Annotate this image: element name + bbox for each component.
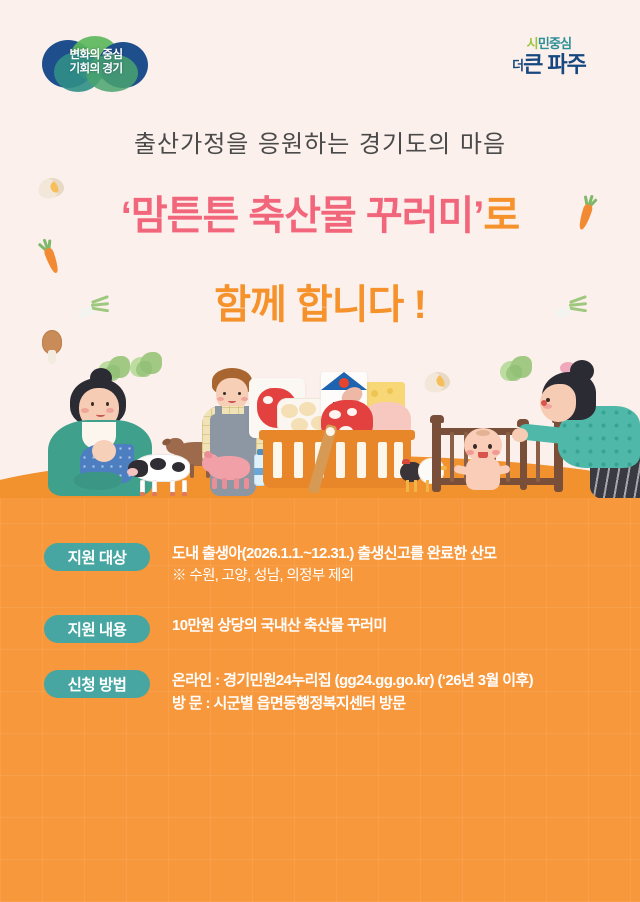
paju-name-main: 큰 파주 [523, 52, 586, 77]
info-row-application: 신청 방법 온라인 : 경기민원24누리집 (gg24.gg.go.kr) (‘… [0, 669, 640, 715]
headline-particle: 로 [483, 194, 519, 238]
leek-icon [556, 296, 590, 318]
paju-logo-slogan: 시민중심 [494, 36, 604, 51]
info-text-benefit-main: 10만원 상당의 국내산 축산물 꾸러미 [172, 614, 387, 637]
paju-slogan-rest: 민중심 [538, 36, 571, 51]
lettuce-icon [500, 356, 532, 384]
info-text-eligibility-main: 도내 출생아(2026.1.1.~12.31.) 출생신고를 완료한 산모 [172, 542, 496, 565]
illustration-cow [128, 448, 200, 496]
info-label-eligibility: 지원 대상 [44, 543, 150, 571]
paju-logo: 시민중심 더큰 파주 [494, 36, 604, 78]
subtitle: 출산가정을 응원하는 경기도의 마음 [0, 124, 640, 159]
gyeonggi-logo-line1: 변화의 중심 [50, 49, 142, 63]
gyeonggi-logo-line2: 기회의 경기 [50, 63, 142, 77]
poster-root: 변화의 중심 기회의 경기 시민중심 더큰 파주 출산가정을 응원하는 경기도의… [0, 0, 640, 902]
info-label-application: 신청 방법 [44, 670, 150, 698]
headline-quoted-title: ‘맘튼튼 축산물 꾸러미’ [121, 194, 484, 238]
info-text-application-visit: 방 문 : 시군별 읍면동행정복지센터 방문 [172, 692, 533, 715]
gyeonggi-logo: 변화의 중심 기회의 경기 [42, 36, 150, 92]
paju-logo-name: 더큰 파주 [494, 52, 604, 78]
info-text-eligibility-note: ※ 수원, 고양, 성남, 의정부 제외 [172, 565, 496, 588]
egg-icon [424, 372, 450, 392]
info-row-benefit: 지원 내용 10만원 상당의 국내산 축산물 꾸러미 [0, 614, 640, 643]
info-row-eligibility: 지원 대상 도내 출생아(2026.1.1.~12.31.) 출생신고를 완료한… [0, 542, 640, 588]
drumstick-icon [42, 330, 62, 364]
info-body-application: 온라인 : 경기민원24누리집 (gg24.gg.go.kr) (‘26년 3월… [172, 669, 533, 715]
illustration-product-basket: Milk [255, 372, 415, 496]
leek-icon [78, 296, 112, 318]
headline-line1: ‘맘튼튼 축산물 꾸러미’로 [0, 192, 640, 240]
illustration-baby-in-crib [460, 428, 506, 494]
carrot-icon [39, 239, 62, 275]
info-text-application-online[interactable]: 온라인 : 경기민원24누리집 (gg24.gg.go.kr) (‘26년 3월… [172, 669, 533, 692]
paju-name-prefix: 더 [512, 58, 523, 73]
egg-icon [38, 178, 64, 198]
illustration-mother-right [540, 360, 640, 500]
illustration-pig [204, 452, 254, 492]
paju-slogan-accent: 시 [527, 36, 538, 51]
info-label-benefit: 지원 내용 [44, 615, 150, 643]
info-body-benefit: 10만원 상당의 국내산 축산물 꾸러미 [172, 614, 387, 637]
top-section: 변화의 중심 기회의 경기 시민중심 더큰 파주 출산가정을 응원하는 경기도의… [0, 0, 640, 500]
gyeonggi-logo-text: 변화의 중심 기회의 경기 [50, 49, 142, 76]
info-body-eligibility: 도내 출생아(2026.1.1.~12.31.) 출생신고를 완료한 산모 ※ … [172, 542, 496, 588]
info-section: 지원 대상 도내 출생아(2026.1.1.~12.31.) 출생신고를 완료한… [0, 498, 640, 902]
info-list: 지원 대상 도내 출생아(2026.1.1.~12.31.) 출생신고를 완료한… [0, 542, 640, 741]
